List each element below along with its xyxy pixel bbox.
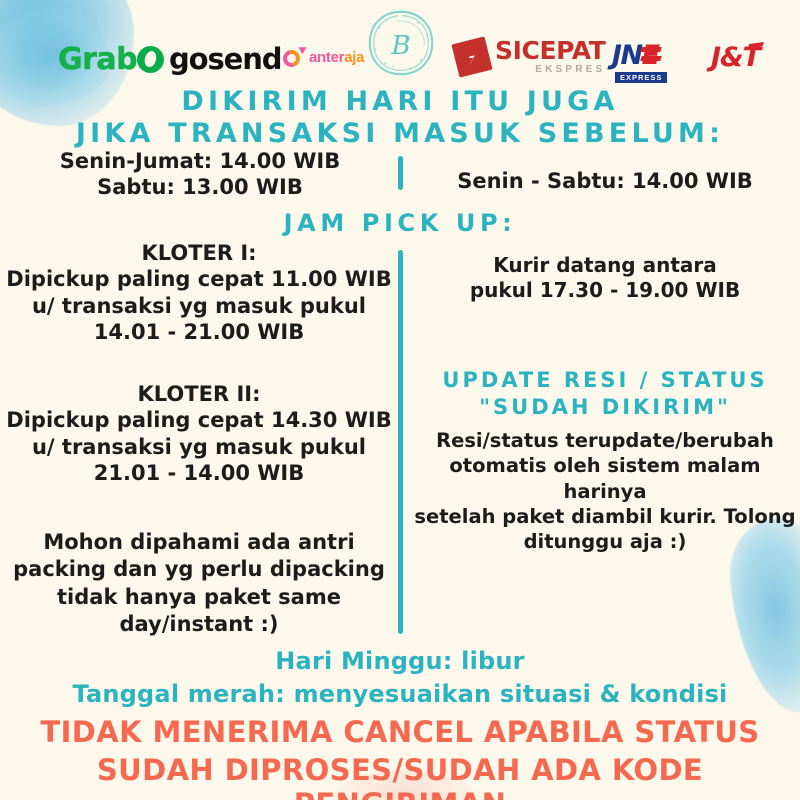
resi-note-block: Resi/status terupdate/berubahotomatis ol…	[414, 428, 796, 555]
kloter-2-block: KLOTER II:Dipickup paling cepat 14.30 WI…	[6, 381, 392, 487]
logo-jnt-text: J&T	[711, 42, 760, 73]
logo-sicepat-text: SICEPAT	[495, 38, 605, 63]
logo-sicepat-subtext: EKSPRES	[495, 65, 605, 75]
logo-anteraja: anteraja	[281, 44, 364, 70]
kurir-arrival-block: Kurir datang antarapukul 17.30 - 19.00 W…	[412, 253, 798, 303]
gosend-mark-icon	[137, 46, 164, 73]
logo-grab: Grab	[58, 42, 137, 77]
shipping-info-poster: B Grab gosend anteraja SICEPAT EKSPRES J	[0, 0, 800, 800]
divider-short	[398, 156, 403, 190]
anteraja-mark-icon	[281, 44, 307, 70]
heading-update-resi-status: UPDATE RESI / STATUS"SUDAH DIKIRIM"	[410, 367, 800, 421]
logo-jne-subtext: EXPRESS	[615, 72, 667, 83]
logo-jne: JNE EXPRESS	[603, 40, 667, 83]
packing-note-block: Mohon dipahami ada antripacking dan yg p…	[6, 529, 392, 638]
warning-line-1: TIDAK MENERIMA CANCEL APABILA STATUS	[0, 715, 800, 749]
kloter-1-block: KLOTER I:Dipickup paling cepat 11.00 WIB…	[6, 240, 392, 346]
logo-anteraja-text: anteraja	[309, 49, 364, 66]
heading-jika-transaksi-masuk-sebelum: JIKA TRANSAKSI MASUK SEBELUM:	[0, 118, 800, 149]
logo-anteraja-text-part2: aja	[344, 49, 364, 66]
footer-sunday-note: Hari Minggu: libur	[0, 647, 800, 675]
divider-vertical	[398, 250, 403, 634]
right-cutoff-hours: Senin - Sabtu: 14.00 WIB	[412, 168, 798, 194]
courier-logo-row: Grab gosend anteraja SICEPAT EKSPRES JNE…	[0, 36, 800, 90]
logo-sicepat: SICEPAT EKSPRES	[455, 38, 605, 75]
logo-jne-text: JNE	[612, 40, 659, 71]
logo-grab-text: Grab	[58, 42, 137, 77]
logo-anteraja-text-part1: anter	[309, 49, 344, 66]
logo-gosend: gosend	[137, 42, 281, 76]
sicepat-mark-icon	[451, 36, 492, 77]
logo-jnt: J&T	[711, 42, 760, 73]
logo-jne-text-jn: JN	[612, 40, 642, 71]
heading-dikirim-hari-itu-juga: DIKIRIM HARI ITU JUGA	[0, 86, 800, 117]
footer-red-date-note: Tanggal merah: menyesuaikan situasi & ko…	[0, 680, 800, 708]
warning-line-2: SUDAH DIPROSES/SUDAH ADA KODE PENGIRIMAN	[0, 753, 800, 800]
heading-jam-pick-up: JAM PICK UP:	[0, 209, 800, 237]
logo-gosend-text: gosend	[169, 42, 281, 76]
left-cutoff-hours: Senin-Jumat: 14.00 WIBSabtu: 13.00 WIB	[10, 148, 390, 201]
